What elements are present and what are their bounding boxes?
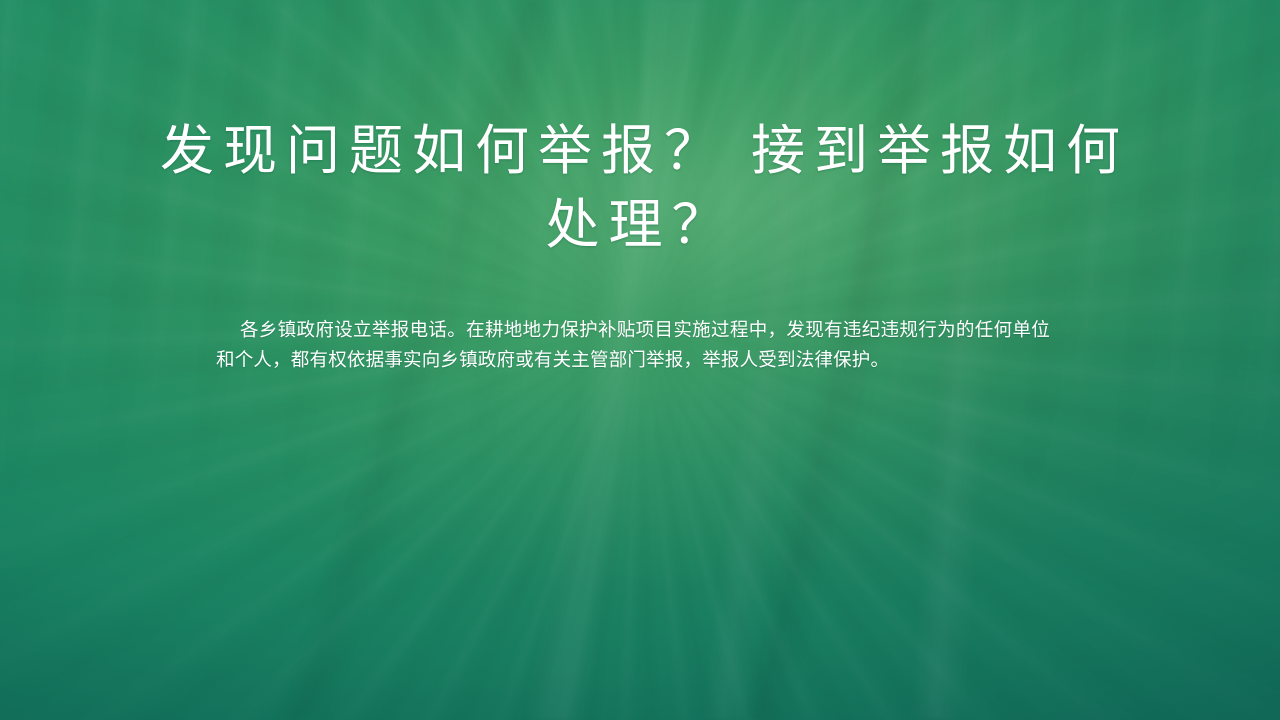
slide-body-paragraph: 各乡镇政府设立举报电话。在耕地地力保护补贴项目实施过程中，发现有违纪违规行为的任… <box>216 315 1050 375</box>
slide-content: 发现问题如何举报？ 接到举报如何处理？ 各乡镇政府设立举报电话。在耕地地力保护补… <box>0 0 1280 720</box>
slide-title: 发现问题如何举报？ 接到举报如何处理？ <box>150 114 1130 262</box>
presentation-slide: 发现问题如何举报？ 接到举报如何处理？ 各乡镇政府设立举报电话。在耕地地力保护补… <box>0 0 1280 720</box>
